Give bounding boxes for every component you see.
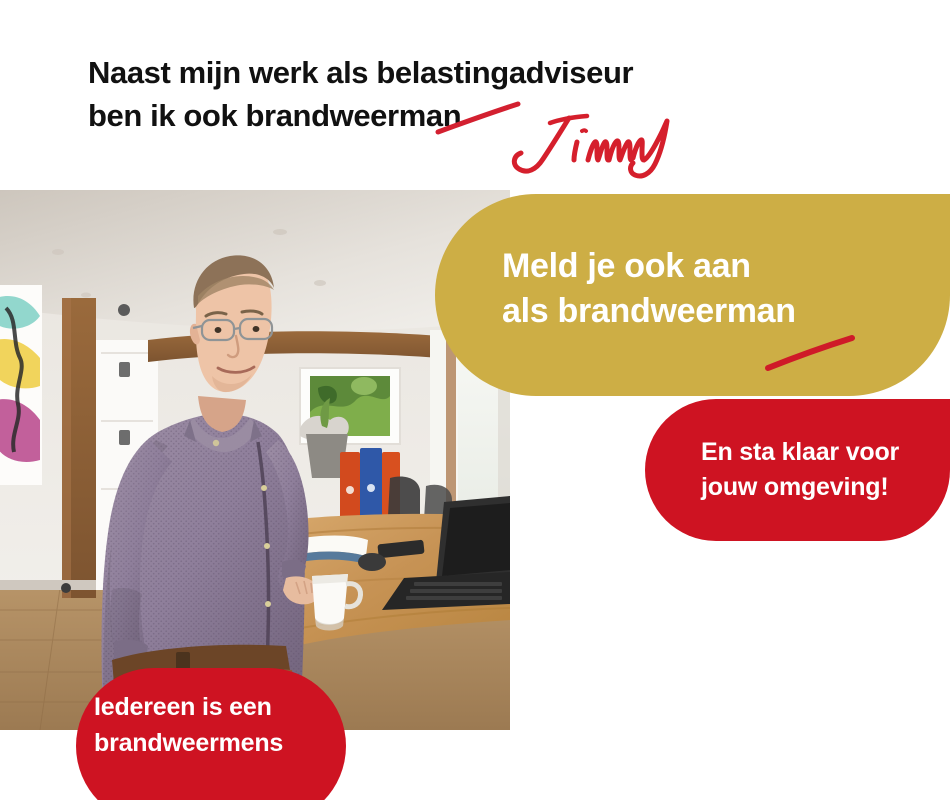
office-portrait-illustration — [0, 190, 510, 730]
callout-gold-line-2: als brandweerman — [502, 292, 796, 330]
callout-red-right-text: En sta klaar voor jouw omgeving! — [701, 435, 899, 504]
callout-gold-text: Meld je ook aan als brandweerman — [502, 244, 796, 334]
callout-red-bottom-line-1: Iedereen is een — [94, 690, 283, 726]
callout-red-bottom-line-2: brandweermens — [94, 726, 283, 762]
campaign-banner: Naast mijn werk als belastingadviseur be… — [0, 0, 950, 800]
handwriting-icon — [505, 112, 680, 182]
callout-red-right-line-2: jouw omgeving! — [701, 470, 899, 505]
headline-line-2-wrap: ben ik ook brandweerman — [88, 95, 461, 138]
callout-red-right[interactable]: En sta klaar voor jouw omgeving! — [645, 399, 950, 541]
signature-jimmy — [505, 112, 680, 182]
callout-red-bottom-text: Iedereen is een brandweermens — [94, 690, 283, 761]
headline-line-2: ben ik ook brandweerman — [88, 98, 461, 133]
callout-gold[interactable]: Meld je ook aan als brandweerman — [435, 194, 950, 396]
headline-line-1: Naast mijn werk als belastingadviseur — [88, 52, 728, 95]
hero-photo — [0, 190, 510, 730]
callout-red-bottom[interactable]: Iedereen is een brandweermens — [76, 668, 346, 800]
callout-gold-line-1: Meld je ook aan — [502, 244, 796, 289]
strikethrough-icon — [764, 335, 856, 371]
callout-red-right-line-1: En sta klaar voor — [701, 435, 899, 470]
callout-gold-line-2-wrap: als brandweerman — [502, 289, 796, 334]
